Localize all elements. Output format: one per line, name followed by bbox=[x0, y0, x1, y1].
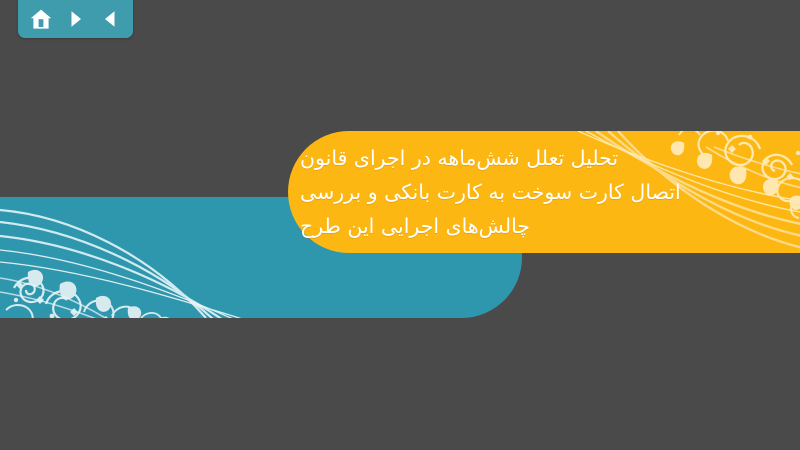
arabesque-ornament bbox=[578, 131, 800, 253]
back-button[interactable] bbox=[96, 5, 124, 33]
forward-button[interactable] bbox=[62, 5, 90, 33]
home-button[interactable] bbox=[27, 5, 55, 33]
arabesque-ornament bbox=[0, 197, 280, 318]
slide-canvas: تحلیل تعلل شش‌ماهه در اجرای قانون اتصال … bbox=[0, 0, 800, 450]
navigation-bar bbox=[18, 0, 133, 38]
back-icon bbox=[99, 8, 121, 30]
title-banner bbox=[288, 131, 800, 253]
forward-icon bbox=[65, 8, 87, 30]
home-icon bbox=[29, 7, 53, 31]
